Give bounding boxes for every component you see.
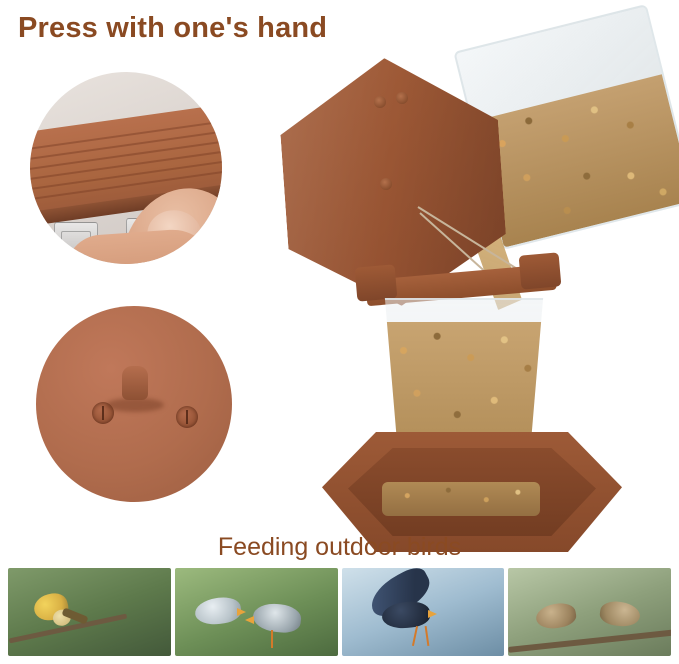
- lid-screw-top-2: [396, 92, 408, 104]
- branch: [508, 629, 671, 653]
- bird-photo-1: [8, 568, 171, 656]
- inset-lid-underside: [36, 306, 232, 502]
- bird-photo-3: [342, 568, 505, 656]
- bird: [31, 590, 70, 623]
- center-lug: [122, 366, 148, 400]
- lug-shadow: [106, 398, 164, 412]
- bird-left: [534, 601, 578, 632]
- beak-left: [237, 608, 246, 616]
- perch-cap-right: [519, 252, 562, 289]
- inset-hand-pressing-lid: [30, 72, 222, 264]
- bird-leg: [271, 630, 273, 648]
- product-infographic: Press with one's hand: [0, 0, 679, 664]
- bird-photo-2: [175, 568, 338, 656]
- bird-photo-strip: [8, 568, 671, 656]
- section-caption: Feeding outdoor birds: [0, 533, 679, 562]
- lid-screw-center: [380, 178, 392, 190]
- screw-right: [176, 406, 198, 428]
- bird-photo-4: [508, 568, 671, 656]
- tray-seed: [382, 482, 540, 516]
- perch-cap-left: [355, 264, 398, 301]
- bird-right: [599, 599, 642, 628]
- bird-feeder: [270, 30, 670, 530]
- beak: [428, 610, 437, 618]
- bird-leg-left: [411, 626, 417, 646]
- bird-leg-right: [424, 626, 429, 646]
- lid-screw-top: [374, 96, 386, 108]
- bird-right: [251, 602, 302, 635]
- beak-right: [245, 616, 254, 624]
- hero-image: [0, 0, 679, 566]
- bird-left: [193, 595, 242, 627]
